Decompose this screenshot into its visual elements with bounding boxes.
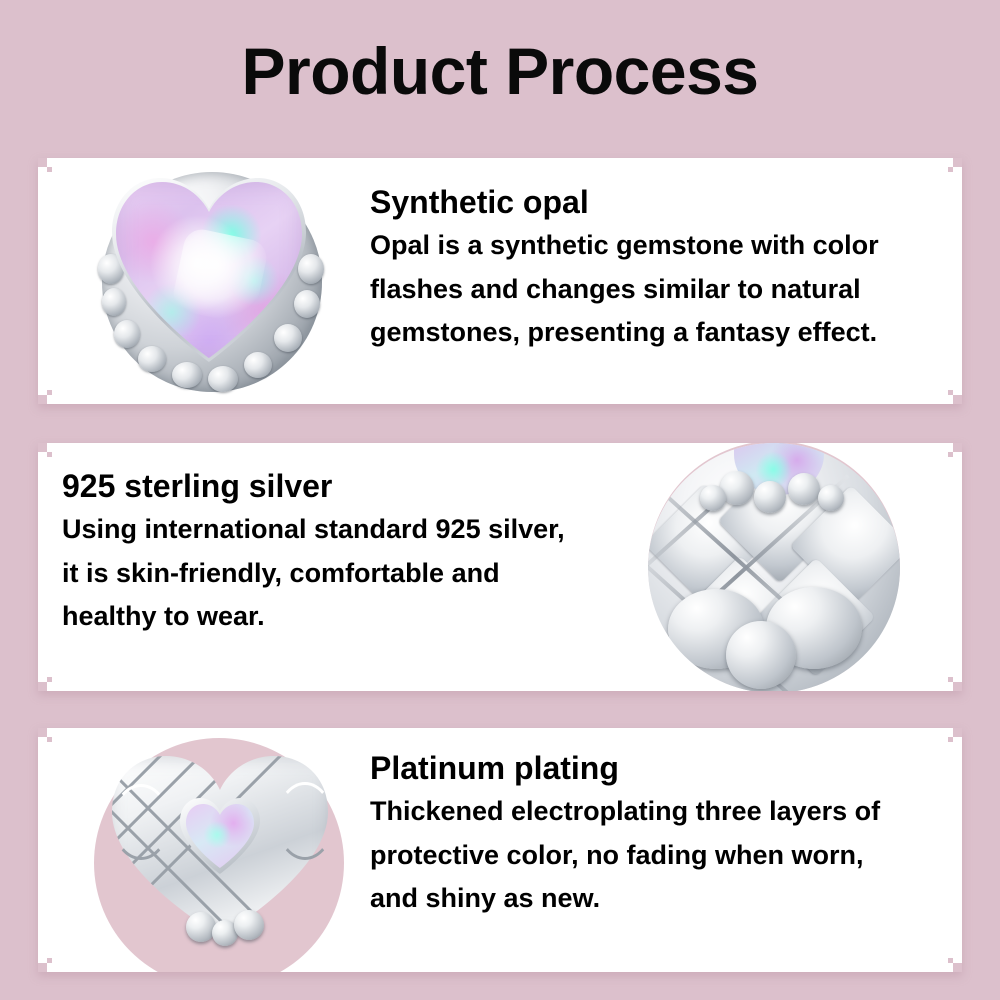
card-body-line: healthy to wear. <box>62 595 642 639</box>
opal-charm-illustration <box>96 170 330 396</box>
card-heading: 925 sterling silver <box>62 470 642 502</box>
silver-bead <box>754 481 786 513</box>
card-body: Opal is a synthetic gemstone with color … <box>370 224 950 355</box>
card-corner-notch <box>47 677 52 682</box>
silver-nub <box>172 362 202 388</box>
silver-bead <box>818 485 844 511</box>
card-corner-notch <box>38 395 47 404</box>
card-heading: Platinum plating <box>370 752 950 784</box>
page-title: Product Process <box>0 38 1000 104</box>
card-corner-notch <box>38 728 47 737</box>
card-corner-notch <box>948 390 953 395</box>
card-body-line: Using international standard 925 silver, <box>62 508 642 552</box>
card-body-line: and shiny as new. <box>370 877 950 921</box>
card-corner-notch <box>948 677 953 682</box>
card-corner-notch <box>953 158 962 167</box>
card-corner-notch <box>953 728 962 737</box>
card-body-line: flashes and changes similar to natural <box>370 268 950 312</box>
card-corner-notch <box>953 682 962 691</box>
infographic-page: Product Process Sy <box>0 0 1000 1000</box>
card-corner-notch <box>953 443 962 452</box>
silver-bead <box>700 485 726 511</box>
card-text-sterling-silver: 925 sterling silver Using international … <box>62 470 642 639</box>
silver-nub <box>274 324 302 352</box>
card-corner-notch <box>47 452 52 457</box>
card-body-line: gemstones, presenting a fantasy effect. <box>370 311 950 355</box>
card-body-line: Thickened electroplating three layers of <box>370 790 950 834</box>
silver-bead <box>788 473 820 505</box>
heart-charm-full-image <box>92 736 348 972</box>
card-corner-notch <box>948 958 953 963</box>
charm-scroll-accent <box>112 784 170 860</box>
silver-nub <box>102 288 126 316</box>
card-body-line: Opal is a synthetic gemstone with color <box>370 224 950 268</box>
card-text-synthetic-opal: Synthetic opal Opal is a synthetic gemst… <box>370 186 950 355</box>
silver-nub <box>298 254 324 284</box>
silver-bead <box>234 910 264 940</box>
silver-nub <box>138 346 166 372</box>
card-corner-notch <box>948 452 953 457</box>
silver-nub <box>208 366 238 392</box>
card-corner-notch <box>47 390 52 395</box>
silver-macro-illustration <box>648 443 900 691</box>
card-corner-notch <box>948 167 953 172</box>
card-corner-notch <box>948 737 953 742</box>
card-body: Thickened electroplating three layers of… <box>370 790 950 921</box>
card-corner-notch <box>38 682 47 691</box>
card-corner-notch <box>953 963 962 972</box>
card-corner-notch <box>38 443 47 452</box>
charm-scroll-accent <box>276 782 334 860</box>
heart-charm-illustration <box>108 756 332 952</box>
card-corner-notch <box>38 158 47 167</box>
card-body-line: protective color, no fading when worn, <box>370 834 950 878</box>
card-heading: Synthetic opal <box>370 186 950 218</box>
heart-opal-closeup-image <box>88 166 338 398</box>
silver-nub <box>294 290 320 318</box>
silver-nub <box>244 352 272 378</box>
card-corner-notch <box>47 167 52 172</box>
card-body-line: it is skin-friendly, comfortable and <box>62 552 642 596</box>
silver-bead <box>186 912 216 942</box>
card-body: Using international standard 925 silver,… <box>62 508 642 639</box>
silver-lobe <box>726 621 796 689</box>
gemstone-facet-highlight <box>170 226 270 326</box>
card-corner-notch <box>47 958 52 963</box>
silver-nub <box>114 320 140 348</box>
card-text-platinum-plating: Platinum plating Thickened electroplatin… <box>370 752 950 921</box>
card-corner-notch <box>47 737 52 742</box>
card-corner-notch <box>953 395 962 404</box>
card-corner-notch <box>38 963 47 972</box>
silver-lattice-macro-image <box>648 443 904 691</box>
